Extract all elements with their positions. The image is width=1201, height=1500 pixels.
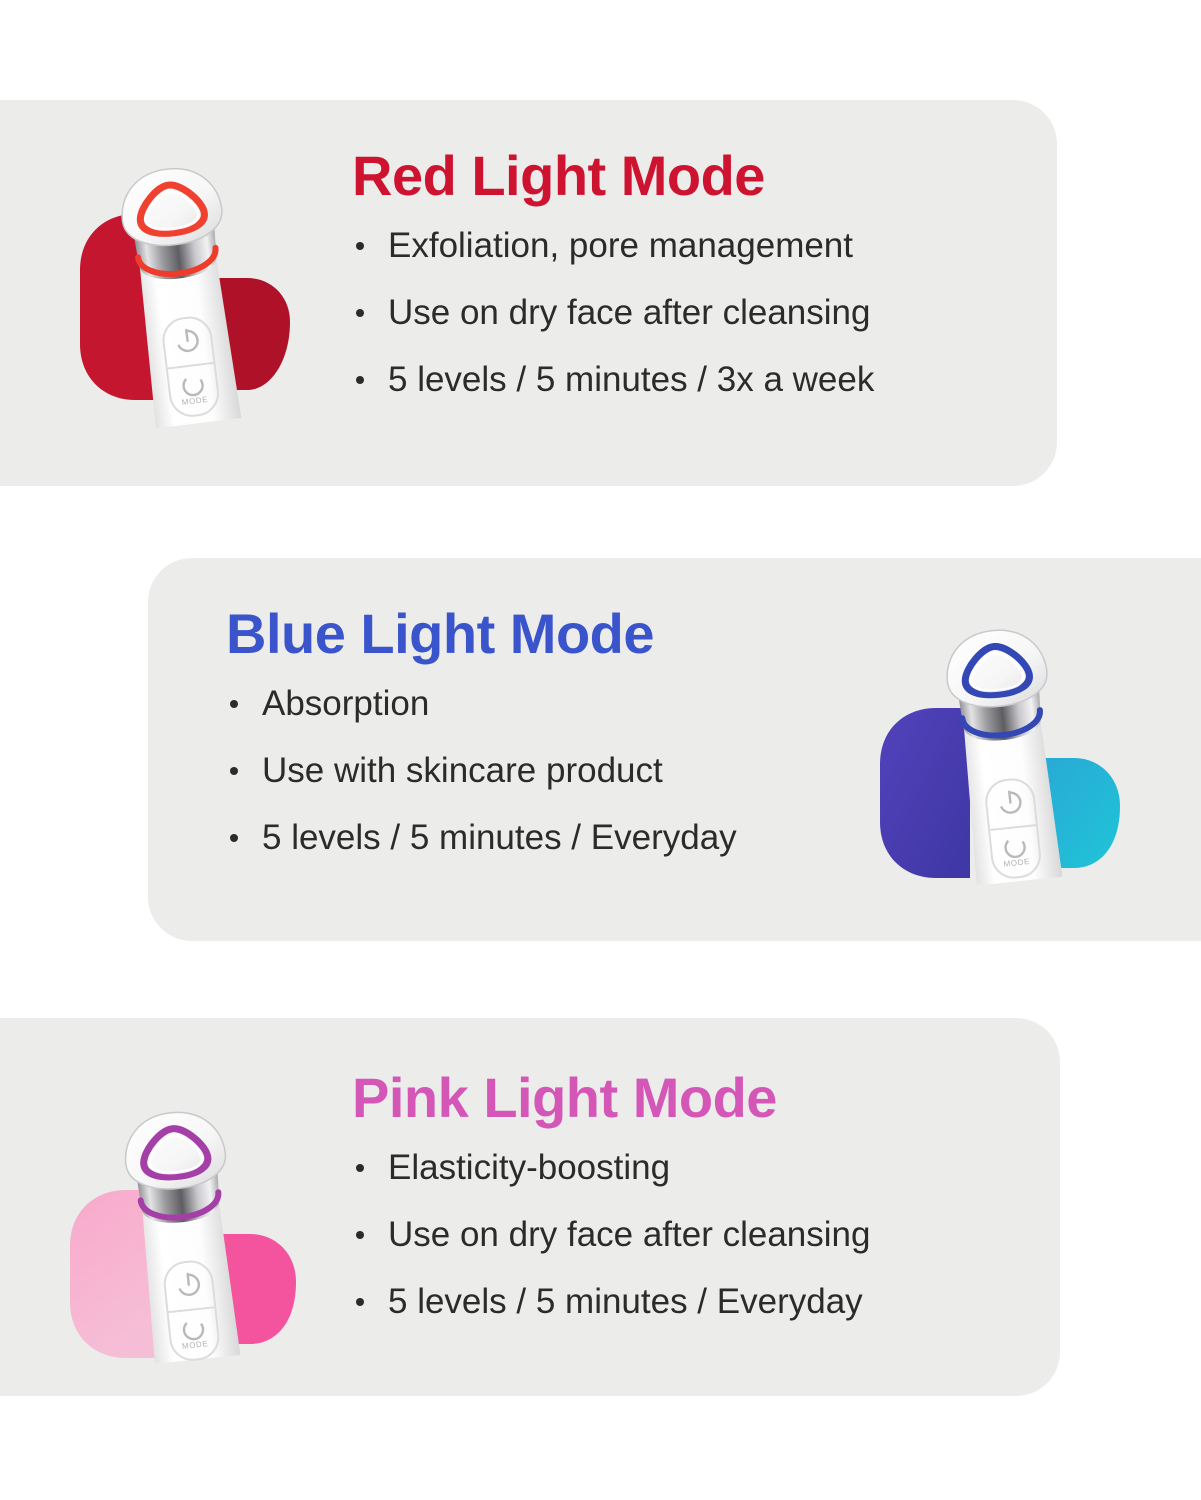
- mode-title-red: Red Light Mode: [352, 146, 874, 206]
- device-image-pink: MODE: [52, 1058, 320, 1363]
- list-item: Use with skincare product: [226, 753, 737, 788]
- mode-text-pink: Pink Light Mode Elasticity-boosting Use …: [352, 1068, 870, 1319]
- bullet-text: Use on dry face after cleansing: [388, 1215, 870, 1254]
- bullet-text: 5 levels / 5 minutes / Everyday: [388, 1282, 863, 1321]
- bullet-text: Use on dry face after cleansing: [388, 293, 870, 332]
- mode-title-pink: Pink Light Mode: [352, 1068, 870, 1128]
- bullet-dot-icon: [356, 242, 364, 250]
- list-item: Use on dry face after cleansing: [352, 1217, 870, 1252]
- list-item: Absorption: [226, 686, 737, 721]
- list-item: 5 levels / 5 minutes / Everyday: [226, 820, 737, 855]
- list-item: 5 levels / 5 minutes / 3x a week: [352, 362, 874, 397]
- bullet-text: 5 levels / 5 minutes / 3x a week: [388, 360, 874, 399]
- bullet-dot-icon: [356, 1231, 364, 1239]
- bullet-text: Exfoliation, pore management: [388, 226, 853, 265]
- mode-title-blue: Blue Light Mode: [226, 604, 737, 664]
- bullet-dot-icon: [230, 834, 238, 842]
- device-image-red: MODE: [52, 128, 320, 428]
- device-image-blue: MODE: [866, 580, 1134, 885]
- bullet-text: Elasticity-boosting: [388, 1148, 670, 1187]
- bullet-dot-icon: [356, 376, 364, 384]
- bullet-text: Absorption: [262, 684, 429, 723]
- infographic-page: MODE Red Light Mode Exfoliation, pore ma…: [0, 0, 1201, 1500]
- mode-bullets-pink: Elasticity-boosting Use on dry face afte…: [352, 1150, 870, 1319]
- bullet-dot-icon: [230, 700, 238, 708]
- bullet-dot-icon: [356, 1164, 364, 1172]
- bullet-dot-icon: [356, 309, 364, 317]
- list-item: Use on dry face after cleansing: [352, 295, 874, 330]
- list-item: 5 levels / 5 minutes / Everyday: [352, 1284, 870, 1319]
- mode-text-blue: Blue Light Mode Absorption Use with skin…: [226, 604, 737, 855]
- bullet-text: 5 levels / 5 minutes / Everyday: [262, 818, 737, 857]
- mode-bullets-blue: Absorption Use with skincare product 5 l…: [226, 686, 737, 855]
- bullet-dot-icon: [356, 1298, 364, 1306]
- mode-text-red: Red Light Mode Exfoliation, pore managem…: [352, 146, 874, 397]
- list-item: Exfoliation, pore management: [352, 228, 874, 263]
- bullet-dot-icon: [230, 767, 238, 775]
- mode-bullets-red: Exfoliation, pore management Use on dry …: [352, 228, 874, 397]
- bullet-text: Use with skincare product: [262, 751, 663, 790]
- list-item: Elasticity-boosting: [352, 1150, 870, 1185]
